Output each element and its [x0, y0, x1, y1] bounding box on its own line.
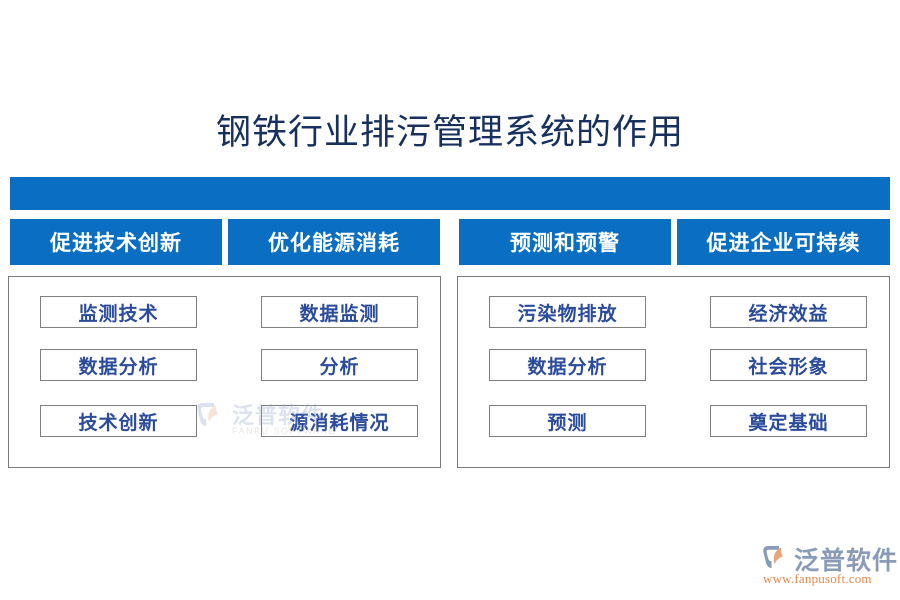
- panel-item-label: 经济效益: [748, 299, 828, 326]
- panel-item-label: 数据分析: [527, 352, 607, 379]
- panel-item[interactable]: 经济效益: [710, 296, 867, 328]
- category-header-row: 促进技术创新 优化能源消耗 预测和预警 促进企业可持续: [10, 219, 890, 265]
- panel-item-label: 社会形象: [748, 352, 828, 379]
- category-header-forecast-and-warning[interactable]: 预测和预警: [459, 219, 671, 265]
- panel-item-label: 数据分析: [78, 352, 158, 379]
- panel-item[interactable]: 污染物排放: [489, 296, 646, 328]
- panel-item-label: 预测: [547, 408, 587, 435]
- panel-item-label: 监测技术: [78, 299, 158, 326]
- panel-item[interactable]: 社会形象: [710, 349, 867, 381]
- brand-logo: 泛普软件 www.fanpusoft.com: [762, 543, 894, 589]
- slide-canvas: 钢铁行业排污管理系统的作用 促进技术创新 优化能源消耗 预测和预警 促进企业可持…: [0, 0, 900, 600]
- category-header-label: 优化能源消耗: [268, 227, 400, 257]
- category-header-label: 促进企业可持续: [707, 227, 861, 257]
- panel-item-label: 数据监测: [299, 299, 379, 326]
- category-header-promote-sustainability[interactable]: 促进企业可持续: [677, 219, 890, 265]
- panel-item[interactable]: 数据分析: [489, 349, 646, 381]
- left-panel: 监测技术 数据监测 数据分析 分析 技术创新 源消耗情况: [8, 276, 441, 468]
- category-header-optimize-energy-consumption[interactable]: 优化能源消耗: [228, 219, 440, 265]
- panel-item[interactable]: 技术创新: [40, 405, 197, 437]
- category-header-promote-tech-innovation[interactable]: 促进技术创新: [10, 219, 222, 265]
- fanpu-logo-icon: [762, 545, 792, 573]
- panel-item[interactable]: 数据分析: [40, 349, 197, 381]
- page-title: 钢铁行业排污管理系统的作用: [0, 108, 900, 158]
- panel-item[interactable]: 奠定基础: [710, 405, 867, 437]
- panel-item[interactable]: 分析: [261, 349, 418, 381]
- panel-item-label: 分析: [319, 352, 359, 379]
- category-header-label: 预测和预警: [510, 227, 620, 257]
- panel-item-label: 源消耗情况: [289, 408, 389, 435]
- right-panel: 污染物排放 经济效益 数据分析 社会形象 预测 奠定基础: [457, 276, 890, 468]
- panel-item[interactable]: 源消耗情况: [261, 405, 418, 437]
- panel-item[interactable]: 数据监测: [261, 296, 418, 328]
- panel-item-label: 技术创新: [78, 408, 158, 435]
- panel-item-label: 污染物排放: [517, 299, 617, 326]
- panel-item[interactable]: 监测技术: [40, 296, 197, 328]
- panel-item-label: 奠定基础: [748, 408, 828, 435]
- top-accent-bar: [10, 177, 890, 210]
- panel-item[interactable]: 预测: [489, 405, 646, 437]
- brand-url[interactable]: www.fanpusoft.com: [763, 571, 872, 587]
- category-header-label: 促进技术创新: [50, 227, 182, 257]
